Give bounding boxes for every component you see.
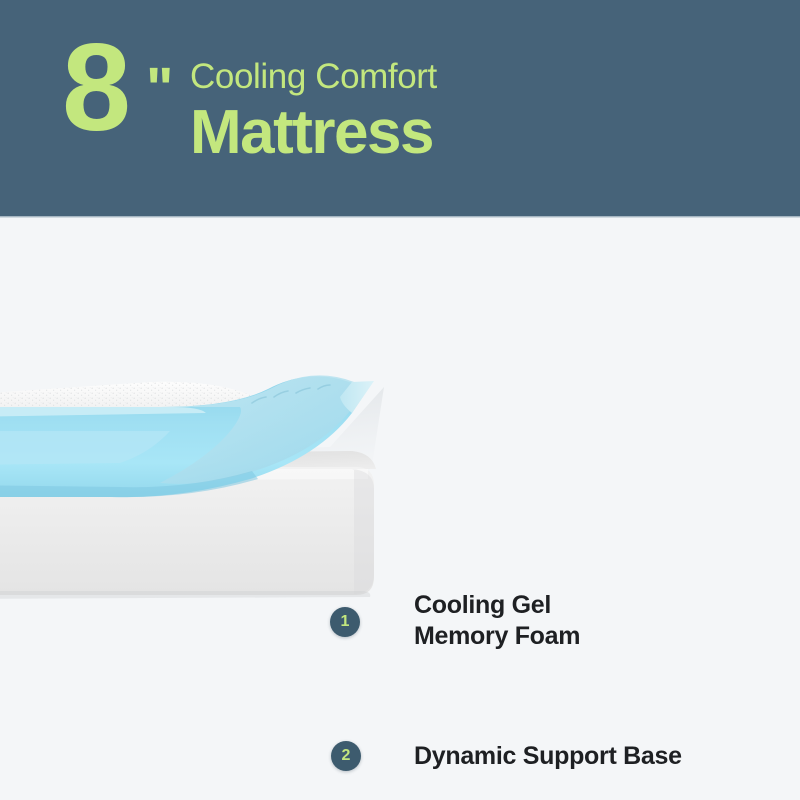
header-banner: 8 " Cooling Comfort Mattress [0, 0, 800, 217]
layer-badge-2-number: 2 [342, 748, 351, 764]
layer-label-dynamic-support-base: Dynamic Support Base [414, 741, 682, 772]
product-infographic: 8 " Cooling Comfort Mattress [0, 0, 800, 800]
layer-badge-1: 1 [330, 607, 360, 637]
mattress-size-number: 8 [62, 26, 127, 150]
layer-badge-1-number: 1 [341, 614, 350, 630]
mattress-cutaway-illustration [0, 217, 800, 800]
support-base-right-shade [352, 469, 374, 594]
headline-subtitle: Cooling Comfort [190, 58, 437, 96]
support-base-ground-shadow [0, 591, 370, 599]
layer-badge-2: 2 [331, 741, 361, 771]
illustration-area: 1 2 Cooling Gel Memory Foam Dynamic Supp… [0, 217, 800, 800]
headline-group: 8 " Cooling Comfort Mattress [62, 36, 702, 176]
headline-product-name: Mattress [190, 98, 433, 168]
layer-label-cooling-gel-memory-foam: Cooling Gel Memory Foam [414, 590, 580, 652]
inch-mark-glyph: " [146, 60, 171, 118]
